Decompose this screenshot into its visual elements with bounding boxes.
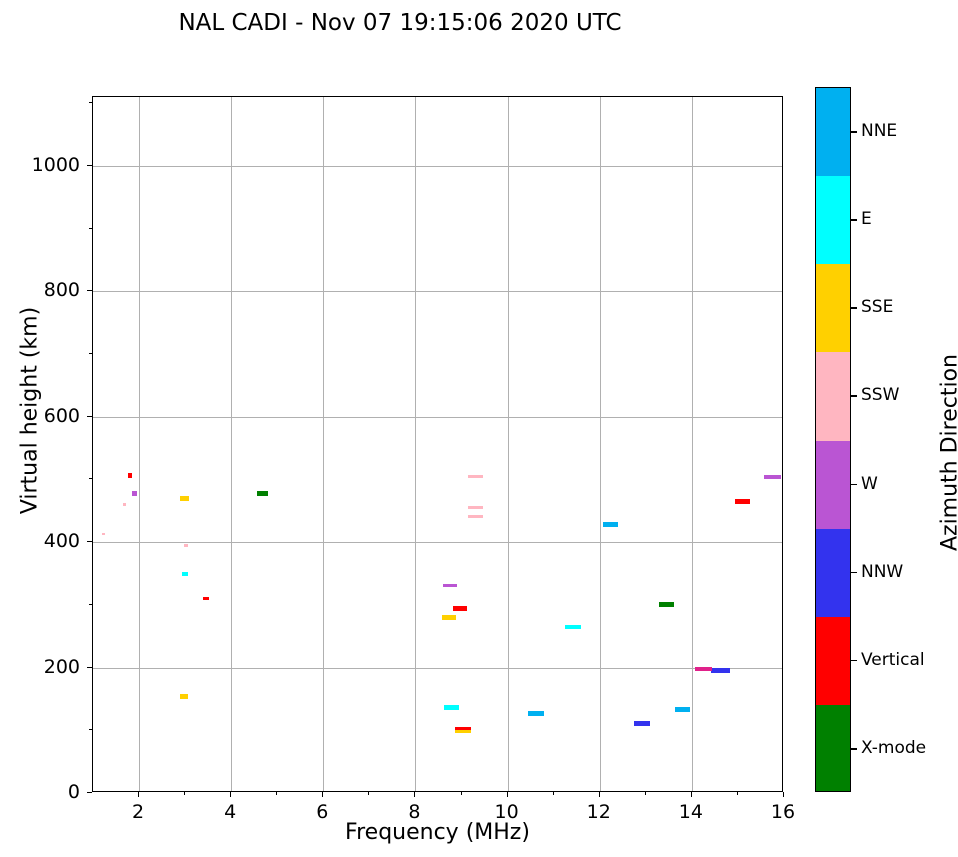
x-axis-tick	[783, 792, 784, 797]
y-axis-tick	[87, 667, 92, 668]
colorbar-segment-sse[interactable]	[816, 264, 850, 353]
colorbar-tick	[851, 307, 857, 309]
colorbar-label-sse: SSE	[861, 297, 893, 317]
echo-trace-w	[132, 491, 136, 496]
colorbar-label-nne: NNE	[861, 121, 897, 141]
ionogram-figure: NAL CADI - Nov 07 19:15:06 2020 UTC 2468…	[0, 0, 958, 857]
colorbar-tick	[851, 131, 857, 133]
colorbar-segment-ssw[interactable]	[816, 352, 850, 441]
x-axis-minor-tick	[368, 792, 369, 795]
y-axis-tick-label: 1000	[32, 154, 80, 176]
y-axis-tick	[87, 792, 92, 793]
echo-trace-nnw	[711, 668, 729, 673]
colorbar-segment-vertical[interactable]	[816, 617, 850, 706]
colorbar-label-ssw: SSW	[861, 385, 899, 405]
azimuth-colorbar	[815, 87, 851, 792]
x-axis-minor-tick	[461, 792, 462, 795]
echo-trace-ssw	[468, 506, 484, 509]
echo-trace-nne	[528, 711, 544, 716]
x-axis-minor-tick	[553, 792, 554, 795]
y-axis-minor-tick	[89, 729, 92, 730]
x-axis-minor-tick	[737, 792, 738, 795]
echo-trace-vertical	[735, 499, 750, 504]
colorbar-segment-e[interactable]	[816, 176, 850, 265]
colorbar-label-e: E	[861, 209, 872, 229]
y-axis-minor-tick	[89, 604, 92, 605]
echo-trace-nnw	[634, 721, 650, 726]
colorbar-tick	[851, 748, 857, 750]
x-axis-tick	[322, 792, 323, 797]
x-axis-tick	[691, 792, 692, 797]
echo-trace-vertical	[203, 597, 209, 600]
colorbar-segment-w[interactable]	[816, 441, 850, 530]
echo-trace-nne	[603, 522, 618, 527]
echo-trace-e	[444, 705, 459, 710]
y-axis-minor-tick	[89, 478, 92, 479]
y-axis-tick-label: 400	[44, 530, 80, 552]
echo-trace-vertical	[453, 606, 467, 611]
echo-trace-magenta-overlap	[695, 667, 713, 671]
colorbar-label-x-mode: X-mode	[861, 738, 926, 758]
echo-trace-sse	[180, 694, 188, 699]
echo-trace-ssw	[468, 475, 483, 478]
echo-trace-w	[764, 475, 781, 479]
y-axis-tick	[87, 165, 92, 166]
y-axis-tick-label: 0	[68, 781, 80, 803]
x-axis-tick	[138, 792, 139, 797]
x-axis-tick	[414, 792, 415, 797]
echo-trace-vertical	[128, 473, 132, 478]
y-axis-tick	[87, 416, 92, 417]
echo-trace-nne	[675, 707, 690, 712]
colorbar-segment-x-mode[interactable]	[816, 705, 850, 792]
colorbar-title: Azimuth Direction	[938, 303, 958, 603]
colorbar-label-nnw: NNW	[861, 562, 903, 582]
x-axis-tick	[230, 792, 231, 797]
echo-trace-ssw	[184, 544, 189, 547]
echo-trace-ssw	[468, 515, 483, 518]
colorbar-segment-nne[interactable]	[816, 88, 850, 177]
y-axis-tick-label: 200	[44, 656, 80, 678]
y-axis-tick	[87, 541, 92, 542]
x-axis-minor-tick	[276, 792, 277, 795]
echo-trace-x-mode	[257, 491, 269, 496]
colorbar-label-vertical: Vertical	[861, 650, 925, 670]
page-title: NAL CADI - Nov 07 19:15:06 2020 UTC	[0, 10, 800, 36]
echo-trace-sse	[455, 730, 470, 733]
echo-trace-e	[182, 572, 188, 576]
x-axis-minor-tick	[645, 792, 646, 795]
plot-area	[92, 96, 783, 792]
y-axis-label: Virtual height (km)	[18, 261, 43, 561]
colorbar-tick	[851, 484, 857, 486]
x-axis-minor-tick	[184, 792, 185, 795]
colorbar-tick	[851, 219, 857, 221]
colorbar-tick	[851, 572, 857, 574]
echo-trace-ssw	[123, 503, 126, 506]
y-axis-tick	[87, 290, 92, 291]
echo-trace-ssw	[102, 533, 105, 535]
colorbar-segment-nnw[interactable]	[816, 529, 850, 618]
echo-trace-sse	[180, 496, 189, 501]
echo-trace-e	[565, 625, 580, 629]
colorbar-tick	[851, 660, 857, 662]
y-axis-minor-tick	[89, 102, 92, 103]
x-axis-tick	[599, 792, 600, 797]
y-axis-minor-tick	[89, 353, 92, 354]
echo-trace-w	[443, 584, 457, 587]
x-axis-label: Frequency (MHz)	[92, 820, 783, 845]
data-traces	[93, 97, 782, 791]
echo-trace-sse	[442, 615, 456, 620]
echo-trace-x-mode	[659, 602, 674, 607]
colorbar-label-w: W	[861, 474, 878, 494]
y-axis-tick-label: 600	[44, 405, 80, 427]
y-axis-tick-label: 800	[44, 279, 80, 301]
y-axis-minor-tick	[89, 228, 92, 229]
x-axis-tick	[507, 792, 508, 797]
colorbar-tick	[851, 395, 857, 397]
